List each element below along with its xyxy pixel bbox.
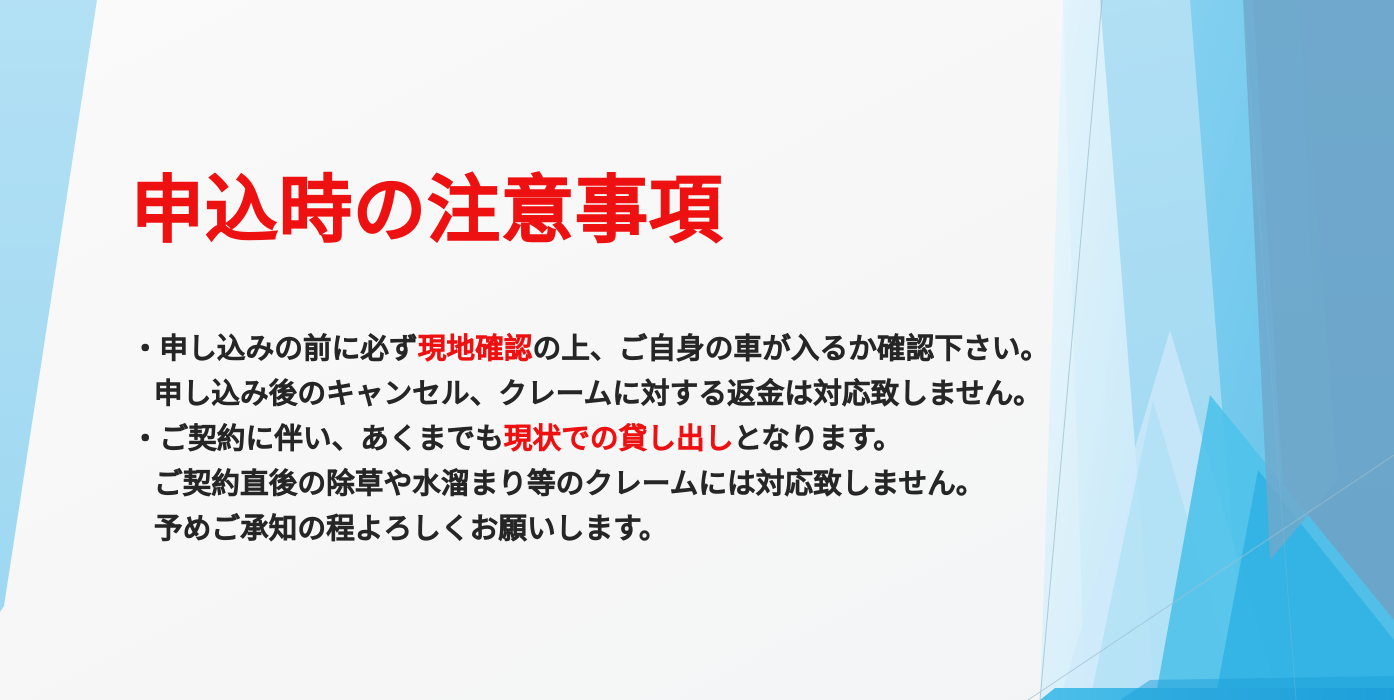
bullet-icon: ・ — [131, 423, 160, 455]
bullet-icon: ・ — [131, 333, 160, 365]
notes-list: ・申し込みの前に必ず現地確認の上、ご自身の車が入るか確認下さい。 申し込み後のキ… — [131, 327, 1191, 552]
notes-text: 予めご承知の程よろしくお願いします。 — [154, 513, 668, 545]
notes-line: ・ご契約に伴い、あくまでも現状での貸し出しとなります。 — [131, 417, 1191, 462]
notes-text: ご契約直後の除草や水溜まり等のクレームには対応致しません。 — [154, 468, 985, 500]
notes-line: ご契約直後の除草や水溜まり等のクレームには対応致しません。 — [131, 462, 1191, 507]
notes-line: 予めご承知の程よろしくお願いします。 — [131, 507, 1191, 552]
page-title: 申込時の注意事項 — [131, 174, 723, 247]
notes-line: ・申し込みの前に必ず現地確認の上、ご自身の車が入るか確認下さい。 — [131, 327, 1191, 372]
notes-text: となります。 — [734, 423, 903, 455]
notes-text: の上、ご自身の車が入るか確認下さい。 — [533, 333, 1050, 365]
slide-content: 申込時の注意事項 ・申し込みの前に必ず現地確認の上、ご自身の車が入るか確認下さい… — [0, 0, 1394, 700]
presentation-slide: 申込時の注意事項 ・申し込みの前に必ず現地確認の上、ご自身の車が入るか確認下さい… — [0, 0, 1394, 700]
notes-text: 申し込み後のキャンセル、クレームに対する返金は対応致しません。 — [154, 378, 1042, 410]
notes-line: 申し込み後のキャンセル、クレームに対する返金は対応致しません。 — [131, 372, 1191, 417]
notes-text: ご契約に伴い、あくまでも — [160, 423, 504, 455]
notes-text: 申し込みの前に必ず — [160, 333, 418, 365]
notes-text-emphasis: 現状での貸し出し — [504, 423, 734, 455]
notes-text-emphasis: 現地確認 — [418, 333, 533, 365]
